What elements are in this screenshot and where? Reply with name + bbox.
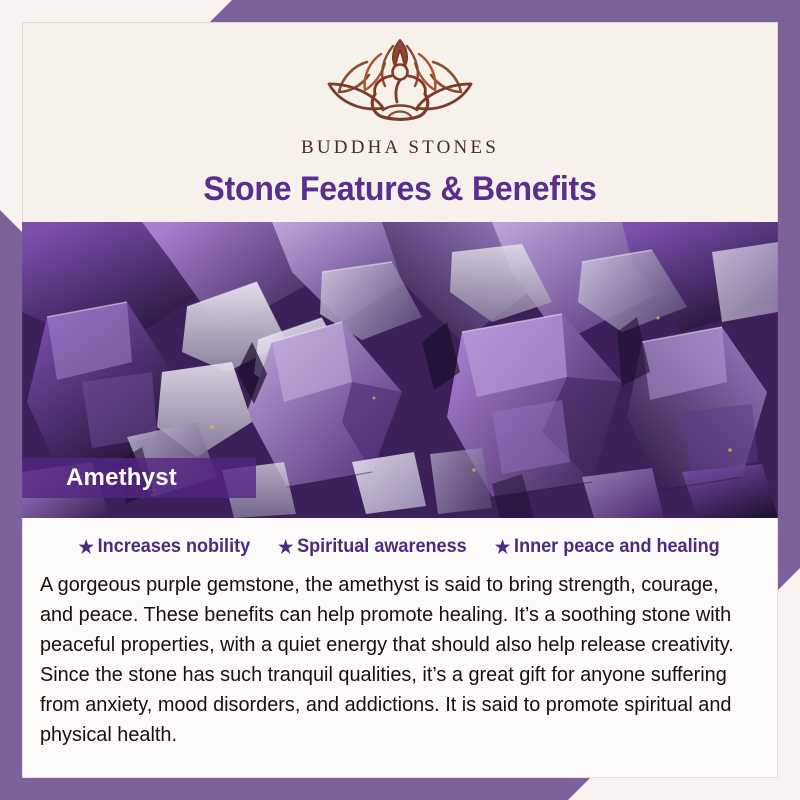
- feature-list: ★ Increases nobility ★ Spiritual awarene…: [38, 536, 762, 558]
- lotus-meditation-icon: [309, 32, 491, 133]
- frame-band-right: [778, 0, 800, 590]
- stone-name-label: Amethyst: [22, 464, 203, 492]
- stone-description: A gorgeous purple gemstone, the amethyst…: [38, 570, 740, 750]
- feature-label-1: Increases nobility: [98, 536, 250, 558]
- frame-band-top: [210, 0, 800, 22]
- star-icon: ★: [278, 538, 293, 556]
- page-title: Stone Features & Benefits: [45, 159, 756, 222]
- frame-band-bottom: [0, 778, 590, 800]
- feature-item-1: ★ Increases nobility: [79, 536, 251, 558]
- hero-image: Amethyst: [22, 222, 778, 518]
- feature-label-3: Inner peace and healing: [514, 536, 720, 558]
- star-icon: ★: [495, 538, 510, 556]
- brand-wordmark: BUDDHA STONES: [301, 137, 499, 159]
- feature-item-3: ★ Inner peace and healing: [495, 536, 720, 558]
- stone-name-banner: Amethyst: [22, 458, 256, 498]
- brand-logo: BUDDHA STONES: [22, 32, 778, 159]
- feature-label-2: Spiritual awareness: [297, 536, 467, 558]
- feature-item-2: ★ Spiritual awareness: [278, 536, 467, 558]
- card-body: ★ Increases nobility ★ Spiritual awarene…: [22, 518, 778, 778]
- frame-band-left: [0, 210, 22, 800]
- info-card: BUDDHA STONES Stone Features & Benefits: [22, 22, 778, 778]
- card-header: BUDDHA STONES Stone Features & Benefits: [22, 22, 778, 222]
- star-icon: ★: [79, 538, 94, 556]
